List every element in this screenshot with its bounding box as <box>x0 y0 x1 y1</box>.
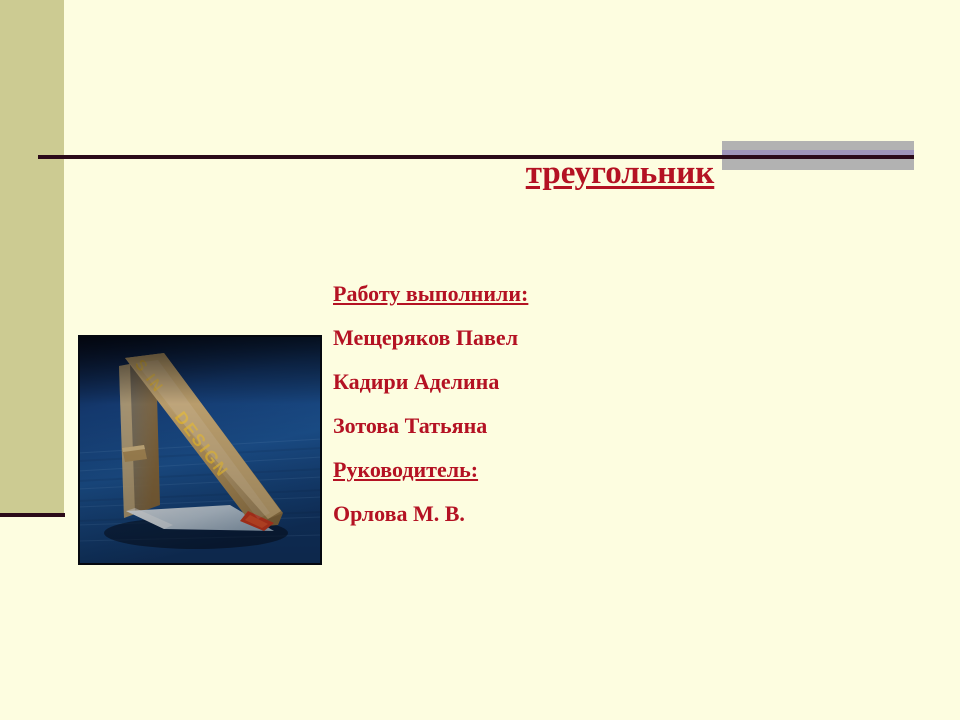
credits-list: Работу выполнили: Мещеряков Павел Кадири… <box>333 272 753 536</box>
page-title: треугольник <box>330 153 910 193</box>
credits-line-author-1: Мещеряков Павел <box>333 316 753 360</box>
credits-line-author-2: Кадири Аделина <box>333 360 753 404</box>
left-accent-band <box>0 0 64 513</box>
photo-illustration: DESIGN S IN <box>78 335 322 565</box>
credits-line-supervisor-name: Орлова М. В. <box>333 492 753 536</box>
slide-canvas: треугольник <box>0 0 960 720</box>
credits-line-heading-authors: Работу выполнили: <box>333 272 753 316</box>
left-accent-band-rule <box>0 513 65 517</box>
project-photo: DESIGN S IN <box>78 335 322 565</box>
credits-line-author-3: Зотова Татьяна <box>333 404 753 448</box>
credits-line-heading-supervisor: Руководитель: <box>333 448 753 492</box>
